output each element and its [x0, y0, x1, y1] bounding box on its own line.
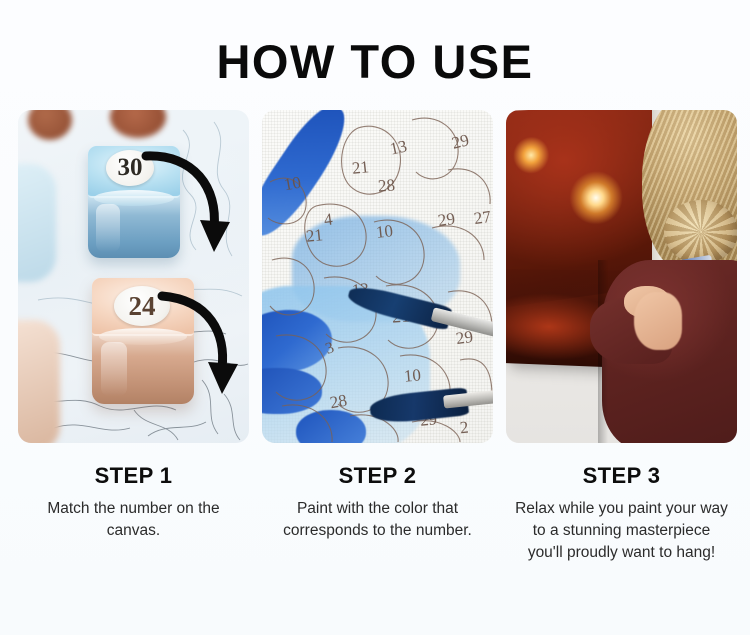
step-2-heading: STEP 2: [262, 463, 493, 489]
steps-row: 30 24 STEP 1: [18, 110, 732, 564]
canvas-number: 10: [403, 365, 422, 386]
step-3-body: Relax while you paint your way to a stun…: [506, 498, 737, 564]
blurred-pot-top-center: [110, 110, 166, 138]
paint-pot-peach-sheen: [101, 342, 127, 396]
hand-holding-canvas: [634, 292, 682, 350]
how-to-use-page: HOW TO USE: [0, 0, 750, 635]
arrow-head-top: [200, 220, 230, 252]
canvas-number: 10: [282, 173, 302, 196]
canvas-number: 10: [375, 221, 394, 243]
blurred-pot-left-blue: [18, 164, 56, 282]
step-1-body: Match the number on the canvas.: [18, 498, 249, 542]
step-2: 10 21 28 13 29 4 27 21 10 29 2 28 13 29 …: [262, 110, 493, 564]
canvas-number: 27: [473, 207, 493, 229]
paint-pot-number-label-30: 30: [106, 150, 154, 186]
page-title: HOW TO USE: [0, 34, 750, 89]
blurred-pot-top-left: [28, 110, 72, 140]
step-1-image: 30 24: [18, 110, 249, 443]
paint-pot-number-label-24: 24: [114, 286, 170, 326]
step-3: STEP 3 Relax while you paint your way to…: [506, 110, 737, 564]
blue-stroke-4: [296, 410, 366, 443]
blurred-pot-left-peach: [18, 320, 60, 443]
canvas-number: 28: [377, 175, 395, 196]
hair-bun-swirl: [664, 200, 737, 264]
canvas-number: 29: [437, 209, 457, 231]
step-3-heading: STEP 3: [506, 463, 737, 489]
step-2-image: 10 21 28 13 29 4 27 21 10 29 2 28 13 29 …: [262, 110, 493, 443]
paint-pot-blue-sheen: [96, 204, 120, 252]
step-1: 30 24 STEP 1: [18, 110, 249, 564]
canvas-number: 21: [305, 225, 324, 247]
canvas-number: 21: [351, 157, 370, 179]
arrow-head-bottom: [208, 362, 238, 394]
step-1-heading: STEP 1: [18, 463, 249, 489]
canvas-number: 28: [328, 391, 348, 414]
step-2-body: Paint with the color that corresponds to…: [262, 498, 493, 542]
step-3-image: [506, 110, 737, 443]
